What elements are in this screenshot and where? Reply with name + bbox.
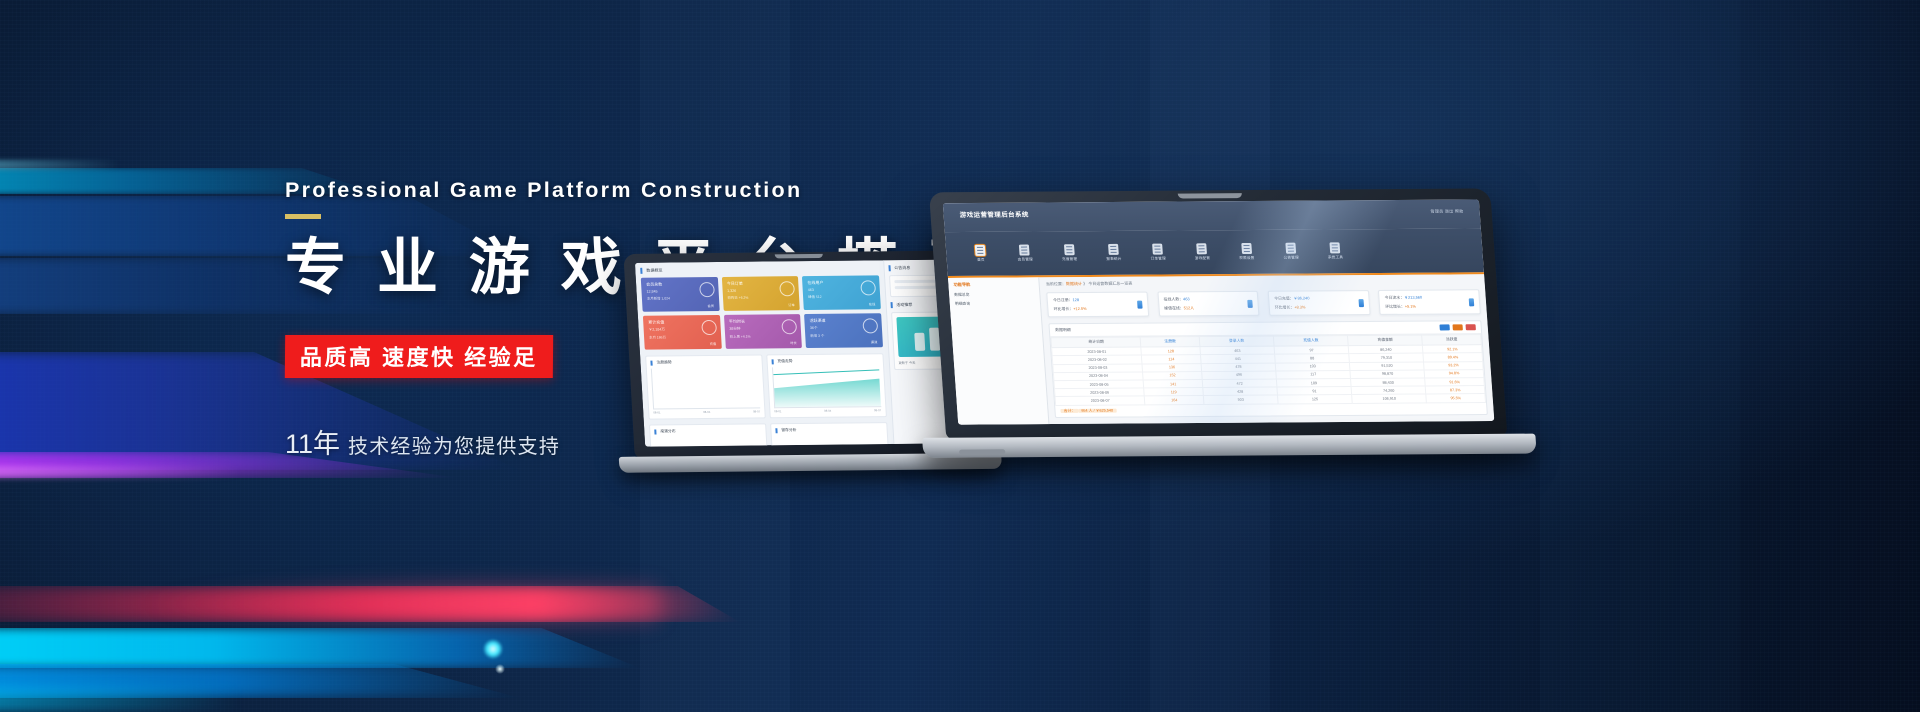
streak-magenta-highlight: [0, 466, 240, 478]
breadcrumb-prefix: 当前位置：: [1046, 281, 1066, 286]
cell-amount: 106,910: [1352, 394, 1427, 403]
stat-value: +5.1%: [1405, 304, 1417, 309]
sidebar-item-detail[interactable]: 明细查询: [955, 302, 1036, 308]
laptop-front-lid: 游戏运营管理后台系统 管理员 退出 帮助 首页 会员管理: [929, 188, 1507, 439]
stat-card[interactable]: 在线人数：463 峰值在线：512人: [1157, 291, 1260, 317]
table-title: 数据明细: [1055, 327, 1071, 333]
toolbar-button-permissions[interactable]: 权限设置: [1228, 243, 1266, 261]
app-titlebar: 游戏运营管理后台系统 管理员 退出 帮助: [943, 199, 1481, 232]
x-tick: 08-01: [774, 409, 781, 413]
line-series: [773, 369, 879, 375]
streak-pink-glow: [140, 576, 660, 632]
kpi-online-icon: [860, 280, 876, 295]
stat-card-row: 今日注册：128 环比增长：+12.5% 在线人数：463: [1047, 290, 1481, 318]
cell-logins: 503: [1203, 395, 1278, 404]
glow-dot-icon: [483, 639, 503, 659]
toolbar-label: 权限设置: [1239, 256, 1255, 261]
chart-caption: 充值走势: [771, 358, 878, 364]
app-title: 游戏运营管理后台系统: [959, 209, 1029, 219]
toolbar-label: 订单管理: [1151, 257, 1167, 262]
chart-caption: 留存分析: [775, 427, 882, 433]
app-body: 功能导航 数据总览 明细查询 当前位置：数据统计 》 今日运营数据汇总一览表: [948, 275, 1494, 425]
toolbar-label: 系统工具: [1328, 255, 1344, 260]
chart-bar-icon: [1358, 299, 1364, 307]
kpi-money-icon: [701, 320, 717, 335]
column-header[interactable]: 注册数: [1140, 337, 1199, 347]
chart-x-axis: 08-01 08-04 08-07: [653, 409, 760, 414]
kpi-tag: 充值: [710, 341, 717, 346]
stat-value: ￥86,240: [1293, 296, 1309, 301]
webcam-icon: [775, 254, 823, 258]
app-main-content: 当前位置：数据统计 》 今日运营数据汇总一览表 今日注册：128 环比增长：+1…: [1039, 275, 1494, 425]
users-icon: [1019, 245, 1030, 256]
kpi-tag: 渠道: [871, 339, 878, 344]
x-tick: 08-07: [874, 408, 881, 412]
chart-bar-icon: [1137, 300, 1143, 308]
data-table-panel: 数据明细: [1049, 320, 1488, 417]
kpi-card[interactable]: 在线用户 463 峰值 512 在线: [802, 275, 881, 310]
dashboard-main: 数据概览 会员总数 12,845 本月新增 1,024 会员: [635, 260, 893, 446]
chart-plot-empty: [651, 367, 760, 409]
kpi-sub: 新增 3 个: [810, 332, 877, 338]
background-panel-3: [1540, 0, 1740, 712]
stat-value: 128: [1072, 297, 1079, 302]
rail-meta-left: 更新于 今天: [898, 360, 915, 365]
breadcrumb-rest: 》 今日运营数据汇总一览表: [1082, 281, 1133, 286]
kpi-sub: 本月 186万: [649, 334, 716, 340]
table-footer-value: 954 人 / ￥625,540: [1078, 408, 1116, 412]
chart-bar-icon: [1469, 298, 1475, 306]
stat-line-2: 峰值在线：512人: [1164, 305, 1253, 312]
kpi-channel-icon: [862, 318, 878, 333]
column-header[interactable]: 充值人数: [1273, 336, 1348, 346]
toolbar-label: 会员管理: [1018, 258, 1034, 263]
kpi-order-icon: [779, 281, 795, 296]
cell-payers: 125: [1278, 395, 1353, 404]
toolbar-label: 公告管理: [1283, 256, 1299, 261]
laptop-front-base: [922, 434, 1537, 458]
column-header-label: 注册数: [1164, 340, 1176, 344]
laptop-back-screen: 数据概览 会员总数 12,845 本月新增 1,024 会员: [635, 259, 975, 446]
area-series: [773, 377, 881, 407]
laptop-front-ports: [959, 449, 1005, 454]
stat-line-1: 在线人数：463: [1163, 296, 1252, 303]
stat-value: 512人: [1184, 305, 1195, 310]
column-header[interactable]: 活跃度: [1422, 335, 1481, 345]
chart-bar-icon: [1248, 300, 1254, 308]
chart-x-axis: 08-01 08-04 08-07: [774, 408, 881, 413]
kpi-tag: 会员: [707, 303, 714, 308]
toolbar-label: 游戏配置: [1195, 256, 1211, 261]
stat-label: 峰值在线：: [1164, 306, 1184, 311]
toolbar-button-config[interactable]: 游戏配置: [1183, 243, 1221, 261]
chart-plot-area: [772, 366, 881, 408]
stat-label: 今日充值：: [1274, 296, 1294, 301]
webcam-icon: [1178, 193, 1242, 198]
app-sidebar: 功能导航 数据总览 明细查询: [948, 278, 1050, 425]
data-table: 统计日期 注册数 登录人数 充值人数 充值金额 活跃度: [1051, 334, 1486, 405]
stat-value: 463: [1183, 297, 1190, 302]
cell-date: 2023-08-07: [1055, 396, 1145, 405]
stat-label: 环比增长：: [1054, 306, 1074, 311]
laptop-mockups: 数据概览 会员总数 12,845 本月新增 1,024 会员: [620, 190, 1520, 500]
column-header[interactable]: 充值金额: [1348, 335, 1423, 345]
toolbar-button-recharge[interactable]: 充值管理: [1050, 244, 1088, 262]
chart-grid-lower: 渠道分布 留存分析: [649, 422, 889, 447]
breadcrumb-link[interactable]: 数据统计: [1066, 281, 1082, 286]
stat-line-2: 环比增长：+5.1%: [1385, 304, 1474, 311]
kpi-tag: 时长: [790, 340, 797, 345]
cell-activity: 95.5%: [1426, 394, 1485, 403]
kpi-card[interactable]: 今日订单 1,326 较昨日 +6.2% 订单: [721, 276, 800, 311]
kpi-card-grid: 会员总数 12,845 本月新增 1,024 会员 今日订单 1,326 较昨: [641, 275, 883, 349]
toolbar-button-orders[interactable]: 订单管理: [1139, 244, 1177, 262]
breadcrumb: 当前位置：数据统计 》 今日运营数据汇总一览表: [1046, 279, 1479, 288]
app-toolbar-ribbon: 首页 会员管理 充值管理 报表统计: [945, 228, 1484, 278]
table-footer: 合计：954 人 / ￥625,540: [1055, 403, 1486, 417]
placeholder-line: [894, 286, 938, 289]
tools-icon: [1329, 242, 1340, 253]
x-tick: 08-04: [703, 410, 710, 414]
kpi-user-icon: [699, 282, 715, 297]
stat-label: 今日注册：: [1053, 297, 1073, 302]
promo-banner: Professional Game Platform Construction …: [0, 0, 1920, 712]
feature-badge: 品质高 速度快 经验足: [285, 335, 553, 378]
chart-card: 注册趋势 08-01 08-04 08-07: [645, 354, 765, 419]
toolbar-label: 首页: [977, 258, 985, 263]
stat-value: +8.3%: [1294, 305, 1306, 310]
kpi-clock-icon: [781, 319, 797, 334]
gold-rule-divider: [285, 214, 321, 219]
chart-caption: 注册趋势: [650, 360, 757, 366]
x-tick: 08-01: [653, 410, 660, 414]
kpi-card[interactable]: 累计充值 ￥2,184万 本月 186万 充值: [643, 315, 722, 350]
stat-line-1: 今日充值：￥86,240: [1274, 295, 1363, 302]
toolbar-button-home[interactable]: 首页: [962, 245, 1000, 263]
support-text: 技术经验为您提供支持: [348, 436, 560, 458]
toolbar-button-notices[interactable]: 公告管理: [1272, 243, 1310, 261]
stat-line-1: 今日流水：￥213,560: [1384, 295, 1473, 302]
settings-icon: [1197, 243, 1208, 254]
kpi-card[interactable]: 会员总数 12,845 本月新增 1,024 会员: [641, 277, 720, 312]
toolbar-button-members[interactable]: 会员管理: [1006, 244, 1044, 262]
stat-line-2: 环比增长：+8.3%: [1275, 304, 1364, 311]
glow-dot-small-icon: [495, 664, 505, 674]
streak-cyan-bottom-3: [0, 688, 240, 712]
dashboard-app: 数据概览 会员总数 12,845 本月新增 1,024 会员: [635, 259, 975, 446]
kpi-card[interactable]: 活跃渠道 36个 新增 3 个 渠道: [804, 313, 883, 348]
app-userbar[interactable]: 管理员 退出 帮助: [1430, 208, 1463, 214]
report-icon: [1108, 244, 1119, 255]
stat-label: 今日流水：: [1384, 295, 1404, 300]
toolbar-label: 充值管理: [1062, 257, 1078, 262]
kpi-tag: 订单: [788, 302, 795, 307]
table-footer-label: 合计：: [1061, 408, 1079, 412]
chart-grid: 注册趋势 08-01 08-04 08-07 充值走势: [645, 353, 886, 419]
streak-cyan-top-highlight: [0, 160, 120, 170]
stat-line-1: 今日注册：128: [1053, 297, 1142, 304]
sidebar-item-overview[interactable]: 数据总览: [954, 293, 1035, 299]
wallet-icon: [1064, 244, 1075, 255]
stat-line-2: 环比增长：+12.5%: [1054, 306, 1143, 313]
key-icon: [1241, 243, 1252, 254]
dashboard-section-title: 数据概览: [640, 265, 878, 273]
export-button[interactable]: [1452, 325, 1462, 331]
reset-button[interactable]: [1466, 324, 1476, 330]
sidebar-header: 功能导航: [953, 282, 1034, 289]
cell-registrations: 164: [1145, 396, 1204, 405]
stat-label: 环比增长：: [1275, 305, 1295, 310]
column-header-label: 充值人数: [1303, 339, 1318, 343]
home-icon: [975, 245, 986, 256]
laptop-front: 游戏运营管理后台系统 管理员 退出 帮助 首页 会员管理: [929, 188, 1511, 491]
column-header-label: 登录人数: [1229, 339, 1244, 343]
chart-card: 充值走势 08-01 08-04 08-07: [766, 353, 886, 418]
notice-icon: [1285, 243, 1296, 254]
x-tick: 08-07: [753, 409, 760, 413]
stat-value: +12.5%: [1073, 306, 1087, 311]
toolbar-label: 报表统计: [1106, 257, 1122, 262]
chart-caption: 渠道分布: [654, 428, 761, 434]
kpi-tag: 在线: [869, 301, 876, 306]
toolbar-button-tools[interactable]: 系统工具: [1316, 242, 1354, 260]
stat-label: 环比增长：: [1385, 304, 1405, 309]
laptop-back-lid: 数据概览 会员总数 12,845 本月新增 1,024 会员: [623, 250, 985, 458]
table-button-group: [1439, 324, 1475, 330]
stat-label: 在线人数：: [1163, 297, 1183, 302]
toolbar-button-report[interactable]: 报表统计: [1095, 244, 1133, 262]
stat-value: ￥213,560: [1404, 295, 1422, 300]
laptop-front-screen: 游戏运营管理后台系统 管理员 退出 帮助 首页 会员管理: [943, 199, 1495, 424]
streak-cyan-bottom: [0, 628, 640, 668]
years-number: 11年: [285, 429, 340, 459]
kpi-card[interactable]: 平均时长 38分钟 较上周 +4.1% 时长: [723, 314, 802, 349]
stat-card[interactable]: 今日充值：￥86,240 环比增长：+8.3%: [1268, 290, 1371, 316]
stat-card[interactable]: 今日注册：128 环比增长：+12.5%: [1047, 292, 1150, 318]
kpi-sub: 较上周 +4.1%: [730, 333, 797, 339]
chart-card: 渠道分布: [649, 423, 768, 446]
x-tick: 08-04: [824, 409, 831, 413]
chart-card: 留存分析: [770, 422, 889, 447]
column-header[interactable]: 登录人数: [1199, 336, 1274, 346]
order-icon: [1152, 244, 1163, 255]
stat-card[interactable]: 今日流水：￥213,560 环比增长：+5.1%: [1378, 290, 1481, 316]
column-header[interactable]: 统计日期: [1051, 337, 1141, 348]
query-button[interactable]: [1439, 325, 1449, 331]
